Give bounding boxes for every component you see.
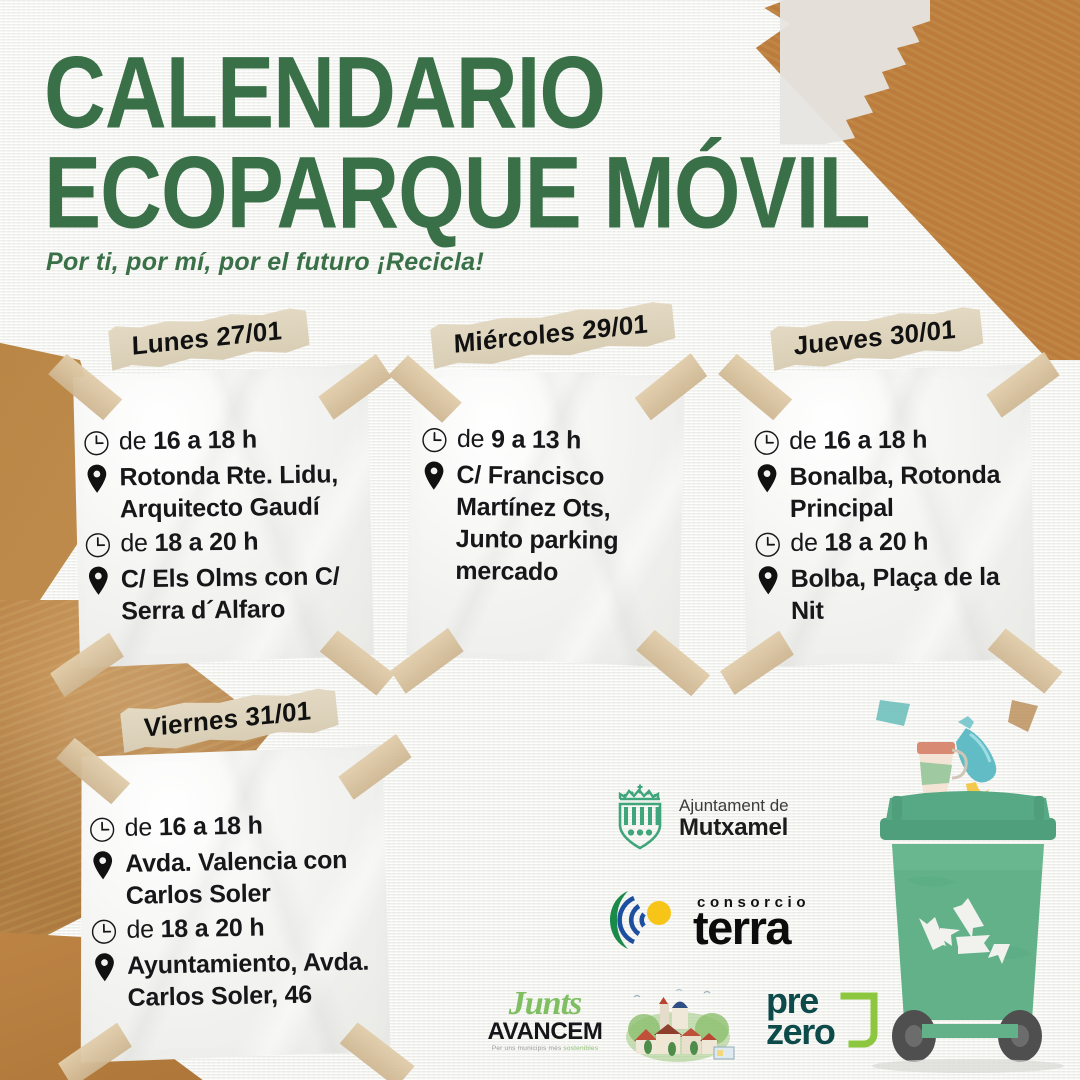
day-card-jueves: de 16 a 18 h Bonalba, Rotonda Principal … (740, 364, 1035, 667)
junts-tagline: Per uns municipis més sostenibles (483, 1046, 607, 1053)
green-wrapper-icon (876, 700, 910, 726)
clock-icon (751, 425, 781, 459)
day-label-miercoles: Miércoles 29/01 (430, 299, 677, 371)
clock-icon (419, 422, 449, 456)
logo-mutxamel: Ajuntament de Mutxamel (613, 780, 789, 857)
poster-canvas: CALENDARIO ECOPARQUE MÓVIL Por ti, por m… (0, 0, 1080, 1080)
schedule-time-text: de 16 a 18 h (789, 424, 927, 457)
clock-icon (88, 914, 119, 949)
day-label-lunes: Lunes 27/01 (108, 305, 311, 373)
schedule-place-row: Rotonda Rte. Lidu, Arquitecto Gaudí (81, 458, 356, 526)
schedule-time-row: de 18 a 20 h (88, 910, 373, 949)
mutxamel-crest-icon (613, 780, 667, 857)
page-subtitle: Por ti, por mí, por el futuro ¡Recicla! (46, 248, 484, 277)
schedule-place-text: Ayuntamiento, Avda. Carlos Soler, 46 (127, 946, 374, 1014)
schedule-time-row: de 16 a 18 h (751, 423, 1017, 460)
day-label-jueves: Jueves 30/01 (770, 304, 985, 373)
page-title: CALENDARIO ECOPARQUE MÓVIL (44, 42, 870, 243)
recycling-bin-illustration (862, 700, 1080, 1080)
map-pin-icon (752, 563, 782, 596)
schedule-place-row: C/ Francisco Martínez Ots, Junto parking… (417, 458, 671, 589)
clock-icon (86, 812, 117, 847)
schedule-time-row: de 9 a 13 h (419, 422, 671, 459)
logo-consorcio-terra: consorcio terra (608, 888, 810, 957)
map-pin-icon (87, 848, 118, 882)
terra-wordmark: consorcio terra (693, 897, 810, 948)
schedule-place-row: Bolba, Plaça de la Nit (752, 561, 1019, 628)
schedule-time-row: de 18 a 20 h (752, 525, 1018, 562)
prezero-wordmark: pre zero (766, 986, 834, 1048)
consorcio-terra-mark-icon (608, 888, 684, 957)
schedule-place-text: C/ Els Olms con C/ Serra d´Alfaro (121, 560, 358, 627)
day-card-viernes: de 16 a 18 h Avda. Valencia con Carlos S… (75, 745, 390, 1062)
clock-icon (752, 527, 782, 561)
schedule-time-text: de 18 a 20 h (790, 526, 928, 559)
title-line-2: ECOPARQUE MÓVIL (44, 142, 870, 242)
schedule-place-text: Bolba, Plaça de la Nit (790, 561, 1019, 627)
village-illustration-icon (614, 985, 742, 1065)
schedule-time-text: de 16 a 18 h (124, 809, 263, 843)
clock-icon (81, 426, 111, 460)
mutxamel-wordmark: Ajuntament de Mutxamel (679, 797, 789, 840)
schedule-time-text: de 16 a 18 h (119, 424, 257, 458)
schedule-place-text: Bonalba, Rotonda Principal (789, 459, 1018, 525)
title-line-1: CALENDARIO (44, 35, 605, 150)
mutxamel-line-2: Mutxamel (679, 815, 789, 840)
junts-avancem-text: AVANCEM (483, 1020, 607, 1044)
map-pin-icon (751, 461, 781, 494)
mutxamel-line-1: Ajuntament de (679, 797, 789, 815)
schedule-place-row: Avda. Valencia con Carlos Soler (87, 844, 372, 913)
map-pin-icon (83, 564, 113, 597)
schedule-time-row: de 16 a 18 h (81, 422, 355, 460)
schedule-place-row: Ayuntamiento, Avda. Carlos Soler, 46 (89, 946, 374, 1015)
schedule-time-row: de 18 a 20 h (82, 524, 356, 562)
clock-icon (82, 528, 112, 562)
schedule-place-text: C/ Francisco Martínez Ots, Junto parking… (455, 459, 671, 590)
schedule-place-row: Bonalba, Rotonda Principal (751, 459, 1018, 526)
schedule-place-row: C/ Els Olms con C/ Serra d´Alfaro (83, 560, 358, 628)
terra-line-2: terra (693, 909, 810, 948)
schedule-time-row: de 16 a 18 h (86, 808, 371, 847)
map-pin-icon (418, 458, 448, 491)
schedule-place-text: Avda. Valencia con Carlos Soler (125, 844, 372, 912)
map-pin-icon (81, 462, 111, 495)
schedule-time-text: de 9 a 13 h (457, 423, 582, 457)
logo-junts-avancem: Junts AVANCEM Per uns municipis més sost… (483, 988, 607, 1053)
schedule-time-text: de 18 a 20 h (120, 525, 258, 559)
schedule-place-text: Rotonda Rte. Lidu, Arquitecto Gaudí (119, 458, 356, 525)
paper-scrap-icon (1008, 700, 1038, 732)
junts-script-text: Junts (483, 988, 607, 1020)
map-pin-icon (89, 950, 120, 984)
schedule-time-text: de 18 a 20 h (126, 911, 265, 945)
prezero-line-2: zero (766, 1017, 834, 1048)
